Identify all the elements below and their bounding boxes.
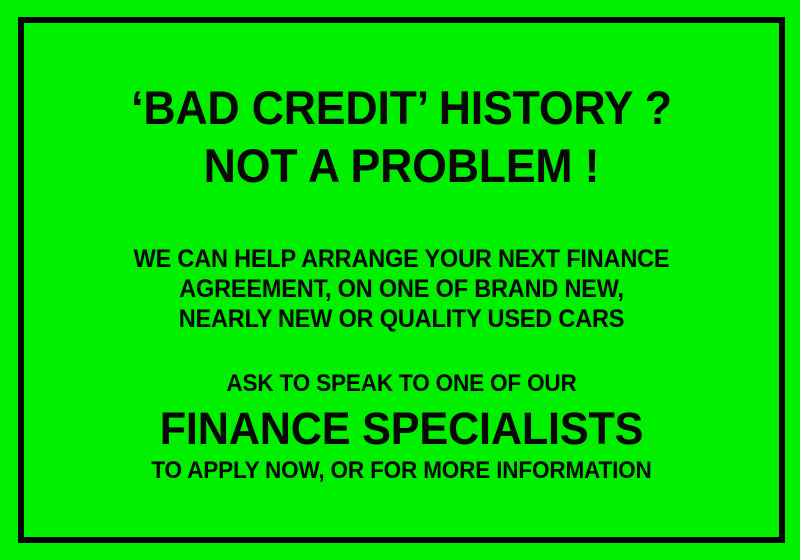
body-line-agreement-brand-new: AGREEMENT, ON ONE OF BRAND NEW, [41,275,762,304]
cta-tail-apply-now-information: TO APPLY NOW, OR FOR MORE INFORMATION [41,457,762,485]
cta-lead-in-ask-to-speak: ASK TO SPEAK TO ONE OF OUR [41,370,762,398]
body-line-nearly-new-used-cars: NEARLY NEW OR QUALITY USED CARS [41,305,762,334]
advertisement-poster: ‘BAD CREDIT’ HISTORY ? NOT A PROBLEM ! W… [0,0,800,560]
headline-not-a-problem: NOT A PROBLEM ! [37,140,766,192]
cta-headline-finance-specialists: FINANCE SPECIALISTS [33,404,769,454]
poster-content: ‘BAD CREDIT’ HISTORY ? NOT A PROBLEM ! W… [18,17,785,543]
body-line-finance-arrange: WE CAN HELP ARRANGE YOUR NEXT FINANCE [41,245,762,274]
headline-bad-credit-history: ‘BAD CREDIT’ HISTORY ? [37,82,766,134]
